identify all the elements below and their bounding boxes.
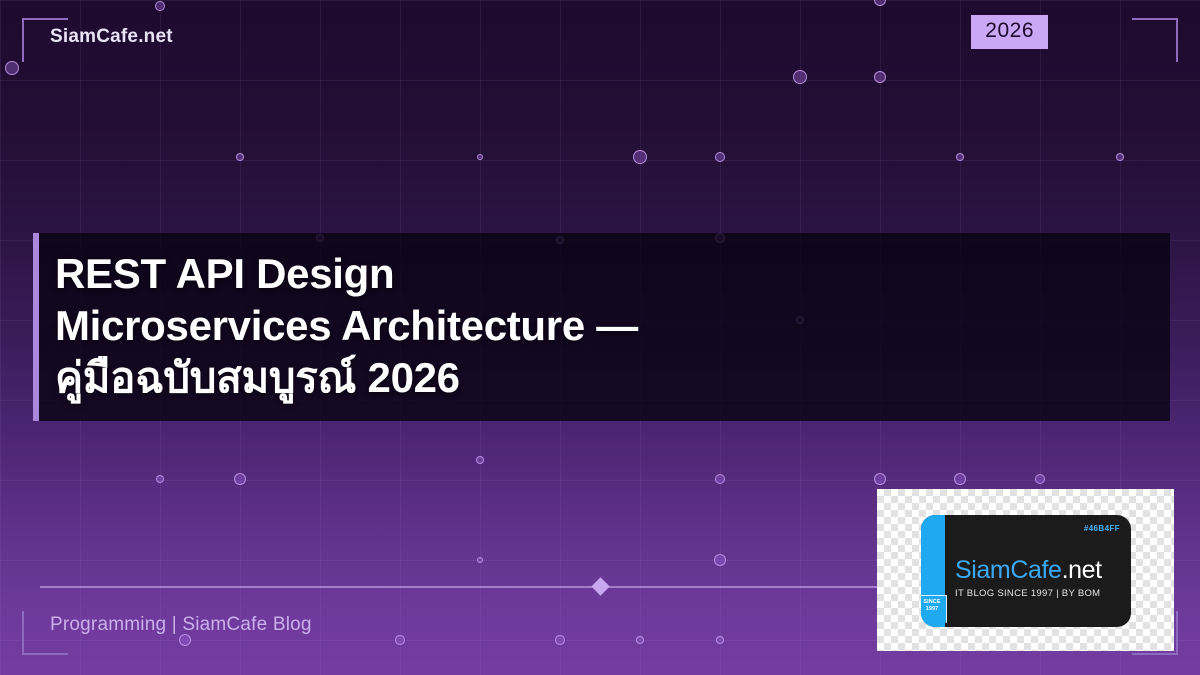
background-dot (156, 475, 164, 483)
bracket-line-vertical (1176, 18, 1178, 62)
logo-wordmark: SiamCafe.net (955, 556, 1121, 585)
background-dot (155, 1, 165, 11)
logo-inner: SINCE 1997 #46B4FF SiamCafe.net IT BLOG … (921, 515, 1131, 627)
background-dot (477, 154, 483, 160)
since-label: SINCE (923, 599, 940, 606)
logo-tagline: IT BLOG SINCE 1997 | BY BOM (955, 588, 1121, 599)
background-dot (874, 473, 886, 485)
background-dot (555, 635, 565, 645)
background-dot (793, 70, 807, 84)
background-dot (954, 473, 966, 485)
bracket-line-vertical (22, 18, 24, 62)
background-dot (874, 0, 886, 6)
logo-name-suffix: .net (1062, 556, 1102, 584)
background-dot (956, 153, 964, 161)
bracket-line-horizontal (1132, 653, 1178, 655)
since-ribbon-icon: SINCE 1997 (921, 595, 947, 623)
bracket-line-horizontal (1132, 18, 1178, 20)
since-year: 1997 (926, 606, 939, 613)
background-dot (874, 71, 886, 83)
logo-body: #46B4FF SiamCafe.net IT BLOG SINCE 1997 … (945, 515, 1131, 627)
background-dot (715, 474, 725, 484)
background-dot (636, 636, 644, 644)
background-dot (476, 456, 484, 464)
hero-banner: SiamCafe.net 2026 REST API Design Micros… (0, 0, 1200, 675)
logo-blue-strip: SINCE 1997 (921, 515, 945, 627)
corner-bracket-top-right (1132, 18, 1178, 62)
background-dot (714, 554, 726, 566)
background-dot (716, 636, 724, 644)
bracket-line-horizontal (22, 653, 68, 655)
title-accent-bar (33, 233, 39, 421)
background-dot (236, 153, 244, 161)
bracket-line-vertical (1176, 611, 1178, 655)
background-dot (234, 473, 246, 485)
background-dot (477, 557, 483, 563)
divider-diamond-marker (591, 577, 609, 595)
site-brand-label: SiamCafe.net (50, 26, 173, 48)
background-dot (1035, 474, 1045, 484)
year-badge: 2026 (971, 15, 1048, 49)
background-dot (5, 61, 19, 75)
bracket-line-vertical (22, 611, 24, 655)
hex-code-label: #46B4FF (1084, 524, 1120, 533)
background-dot (715, 152, 725, 162)
background-dot (395, 635, 405, 645)
breadcrumb: Programming | SiamCafe Blog (50, 614, 312, 636)
bracket-line-horizontal (22, 18, 68, 20)
background-dot (1116, 153, 1124, 161)
logo-card: SINCE 1997 #46B4FF SiamCafe.net IT BLOG … (877, 489, 1174, 651)
logo-name-primary: SiamCafe (955, 556, 1062, 584)
page-title: REST API Design Microservices Architectu… (55, 248, 1145, 404)
background-dot (633, 150, 647, 164)
